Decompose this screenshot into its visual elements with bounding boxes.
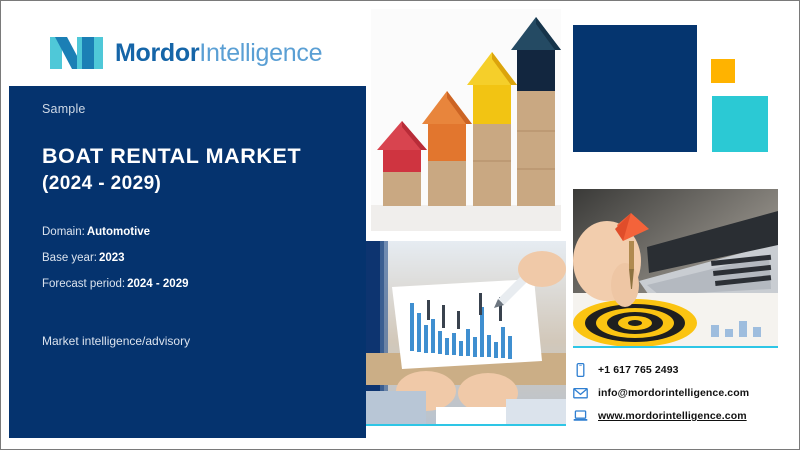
- wooden-blocks-illustration: [371, 9, 561, 231]
- advisory-label: Market intelligence/advisory: [42, 334, 190, 348]
- meta-value-domain: Automotive: [87, 226, 150, 238]
- navy-square: [573, 25, 697, 152]
- page-title: BOAT RENTAL MARKET (2024 - 2029): [42, 143, 301, 196]
- amber-square: [711, 59, 735, 83]
- report-cover-page: MordorIntelligence Sample BOAT RENTAL MA…: [0, 0, 800, 450]
- meeting-chart-illustration: [366, 241, 566, 424]
- meta-value-base-year: 2023: [99, 252, 125, 264]
- brand-name-light: Intelligence: [199, 39, 322, 67]
- laptop-icon: [573, 409, 588, 423]
- contact-row-website[interactable]: www.mordorintelligence.com: [573, 409, 749, 423]
- mordor-m-logo-icon: [48, 34, 106, 72]
- meta-row-domain: Domain:Automotive: [42, 226, 189, 238]
- business-meeting-chart-photo: [366, 241, 566, 426]
- contact-website-text: www.mordorintelligence.com: [598, 410, 747, 422]
- report-title-years: (2024 - 2029): [42, 172, 301, 196]
- report-meta-list: Domain:Automotive Base year:2023 Forecas…: [42, 226, 189, 304]
- contact-block: +1 617 765 2493 info@mordorintelligence.…: [573, 363, 749, 423]
- meta-value-forecast-period: 2024 - 2029: [127, 278, 188, 290]
- contact-row-email[interactable]: info@mordorintelligence.com: [573, 386, 749, 400]
- contact-email-text: info@mordorintelligence.com: [598, 387, 749, 399]
- wooden-blocks-growth-chart-photo: [371, 9, 561, 231]
- dart-target-laptop-photo: [573, 189, 778, 348]
- phone-icon: [573, 363, 588, 377]
- dart-target-illustration: [573, 189, 778, 346]
- meta-key-base-year: Base year:: [42, 252, 97, 264]
- envelope-icon: [573, 386, 588, 400]
- meta-key-forecast-period: Forecast period:: [42, 278, 125, 290]
- brand-name-bold: Mordor: [115, 39, 199, 67]
- contact-row-phone[interactable]: +1 617 765 2493: [573, 363, 749, 377]
- brand-wordmark: MordorIntelligence: [115, 41, 322, 66]
- contact-phone-text: +1 617 765 2493: [598, 364, 679, 376]
- brand-logo[interactable]: MordorIntelligence: [48, 34, 322, 72]
- report-title: BOAT RENTAL MARKET: [42, 143, 301, 170]
- sample-label: Sample: [42, 102, 86, 116]
- meta-row-forecast-period: Forecast period:2024 - 2029: [42, 278, 189, 290]
- meta-key-domain: Domain:: [42, 226, 85, 238]
- cover-info-panel: Sample BOAT RENTAL MARKET (2024 - 2029) …: [9, 86, 366, 438]
- cyan-square: [712, 96, 768, 152]
- meta-row-base-year: Base year:2023: [42, 252, 189, 264]
